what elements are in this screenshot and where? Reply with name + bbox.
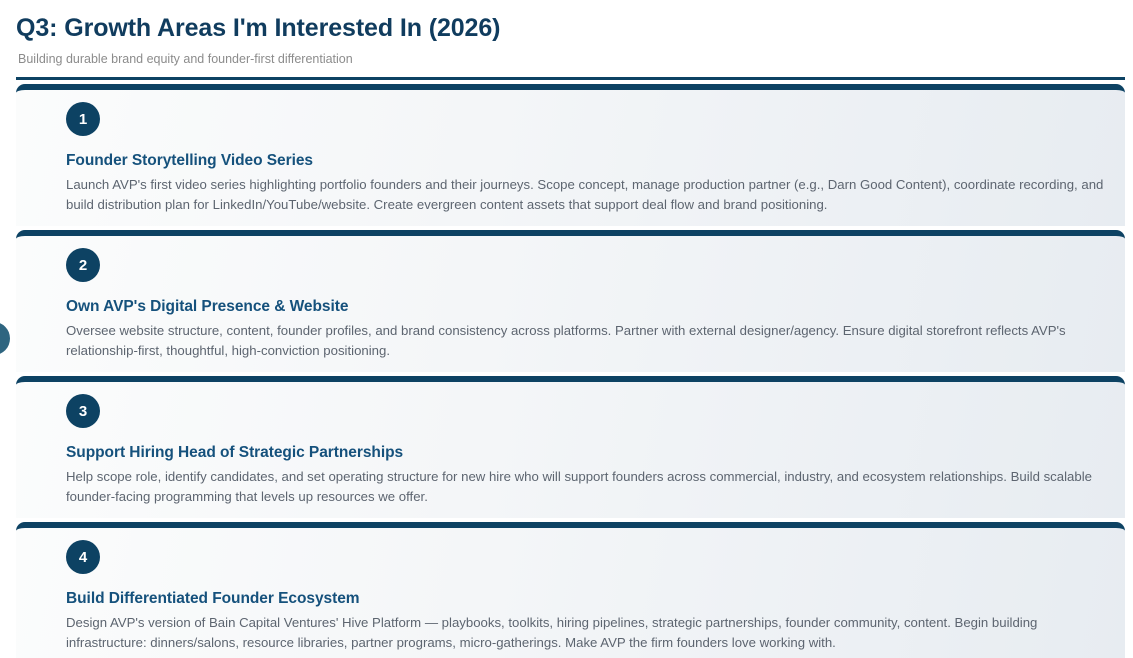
page-subtitle: Building durable brand equity and founde… (18, 51, 1133, 67)
growth-area-card[interactable]: 1 Founder Storytelling Video Series Laun… (16, 84, 1125, 226)
card-body: Support Hiring Head of Strategic Partner… (66, 443, 1111, 506)
card-body: Founder Storytelling Video Series Launch… (66, 151, 1111, 214)
card-body: Own AVP's Digital Presence & Website Ove… (66, 297, 1111, 360)
card-number-badge: 1 (66, 102, 100, 136)
slide-root: Q3: Growth Areas I'm Interested In (2026… (0, 0, 1133, 658)
card-description: Design AVP's version of Bain Capital Ven… (66, 613, 1111, 652)
card-description: Oversee website structure, content, foun… (66, 321, 1111, 360)
growth-area-card[interactable]: 2 Own AVP's Digital Presence & Website O… (16, 230, 1125, 372)
slide-header: Q3: Growth Areas I'm Interested In (2026… (0, 0, 1133, 67)
page-title: Q3: Growth Areas I'm Interested In (2026… (16, 12, 1133, 44)
card-title: Support Hiring Head of Strategic Partner… (66, 443, 1111, 463)
card-description: Help scope role, identify candidates, an… (66, 467, 1111, 506)
card-number-badge: 3 (66, 394, 100, 428)
card-description: Launch AVP's first video series highligh… (66, 175, 1111, 214)
card-number-badge: 4 (66, 540, 100, 574)
card-body: Build Differentiated Founder Ecosystem D… (66, 589, 1111, 652)
header-divider-rule (16, 77, 1125, 80)
card-title: Own AVP's Digital Presence & Website (66, 297, 1111, 317)
card-title: Build Differentiated Founder Ecosystem (66, 589, 1111, 609)
card-number-badge: 2 (66, 248, 100, 282)
card-title: Founder Storytelling Video Series (66, 151, 1111, 171)
growth-area-card[interactable]: 3 Support Hiring Head of Strategic Partn… (16, 376, 1125, 518)
growth-areas-card-list: 1 Founder Storytelling Video Series Laun… (16, 84, 1125, 658)
decorative-circle-icon (0, 322, 10, 355)
growth-area-card[interactable]: 4 Build Differentiated Founder Ecosystem… (16, 522, 1125, 658)
